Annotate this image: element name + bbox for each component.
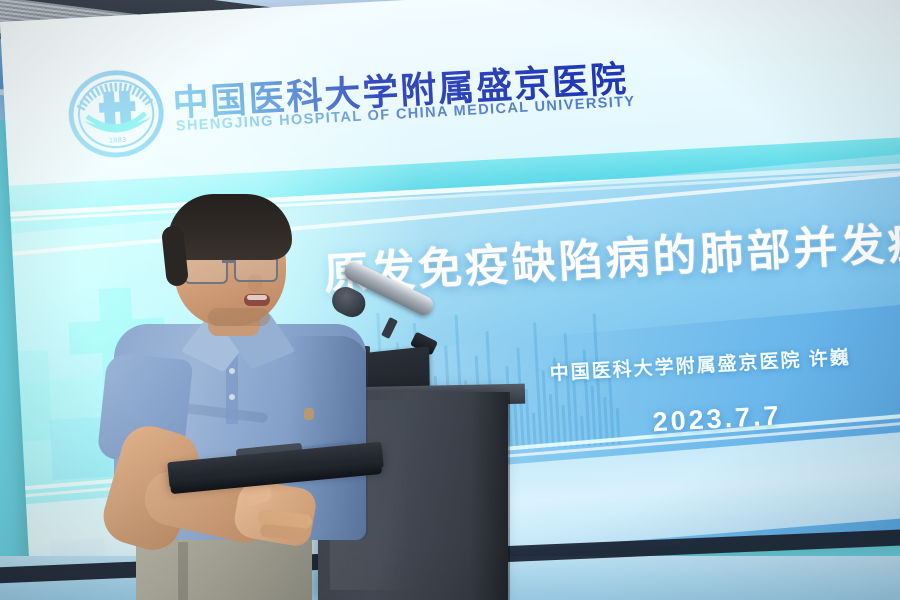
waveform-bar	[591, 385, 597, 445]
shirt-button	[229, 394, 235, 400]
lectern-shadow	[470, 392, 510, 600]
shengjing-hospital-emblem-icon: 1883	[65, 65, 168, 162]
svg-text:1883: 1883	[109, 136, 127, 145]
shirt-emblem	[304, 408, 314, 420]
waveform-bar	[572, 380, 579, 446]
decor-square	[8, 350, 53, 442]
waveform-bar	[542, 370, 549, 448]
speaker-person	[108, 196, 378, 600]
jaw-shading	[208, 308, 270, 326]
eyeglasses-bridge	[222, 260, 236, 263]
waveform-bar	[549, 394, 555, 448]
waveform-bar	[525, 389, 531, 449]
speaker-hair	[168, 194, 292, 260]
shirt-button	[229, 368, 235, 374]
speaker-teeth	[247, 295, 267, 300]
trouser-fold	[178, 542, 188, 600]
waveform-bar	[513, 402, 519, 450]
screenshot-root: 1883 中国医科大学附属盛京医院 SHENGJING HOSPITAL OF …	[0, 0, 900, 600]
